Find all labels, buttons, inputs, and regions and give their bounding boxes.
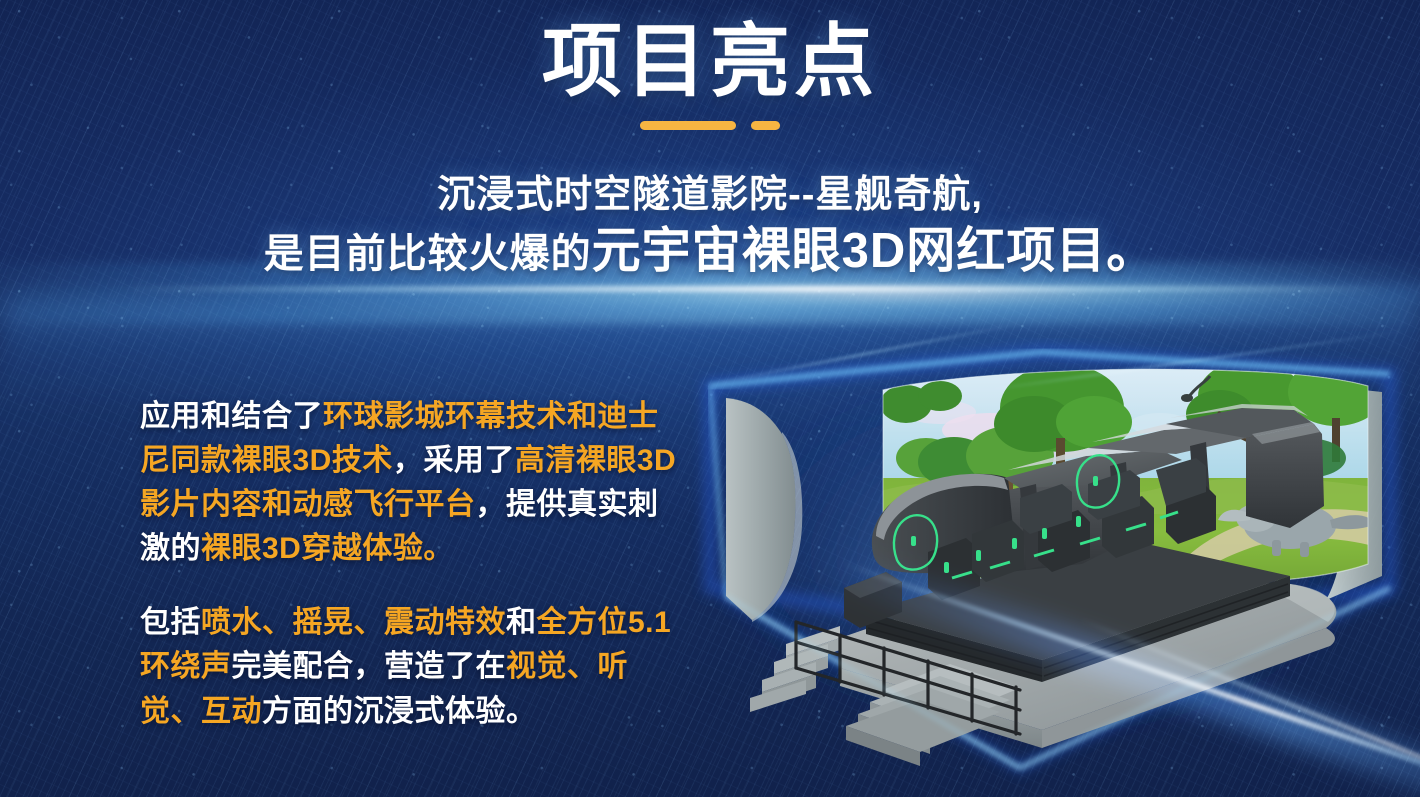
theater-illustration — [690, 338, 1420, 797]
text-segment-6: 裸眼3D穿越体验。 — [201, 532, 454, 565]
page-title: 项目亮点 — [0, 20, 1420, 104]
divider-dash-long — [640, 121, 736, 130]
text-segment-2: 喷水、摇晃、震动特效 — [201, 606, 506, 639]
text-segment-7: 方面的沉浸式体验。 — [262, 695, 537, 728]
slide-canvas: 项目亮点 沉浸式时空隧道影院--星舰奇航, 是目前比较火爆的元宇宙裸眼3D网红项… — [0, 0, 1420, 797]
theater-illustration-svg — [690, 338, 1420, 797]
divider-dash-short — [751, 121, 780, 130]
text-segment-3: 和 — [506, 606, 537, 639]
body-text-column: 应用和结合了环球影城环幕技术和迪士尼同款裸眼3D技术，采用了高清裸眼3D影片内容… — [140, 365, 688, 764]
light-sweep-core — [120, 286, 1390, 292]
text-segment-1: 应用和结合了 — [140, 400, 323, 433]
paragraph-1: 应用和结合了环球影城环幕技术和迪士尼同款裸眼3D技术，采用了高清裸眼3D影片内容… — [140, 395, 688, 571]
subtitle-line-2-big: 元宇宙裸眼3D网红项目。 — [592, 224, 1157, 278]
subtitle-line-1: 沉浸式时空隧道影院--星舰奇航, — [0, 170, 1420, 222]
subtitle-block: 沉浸式时空隧道影院--星舰奇航, 是目前比较火爆的元宇宙裸眼3D网红项目。 — [0, 170, 1420, 280]
text-segment-1: 包括 — [140, 606, 201, 639]
text-segment-5: 完美配合，营造了在 — [232, 650, 507, 683]
subtitle-line-2-small: 是目前比较火爆的 — [264, 232, 592, 276]
subtitle-line-2: 是目前比较火爆的元宇宙裸眼3D网红项目。 — [0, 222, 1420, 281]
title-divider — [0, 121, 1420, 130]
paragraph-2: 包括喷水、摇晃、震动特效和全方位5.1环绕声完美配合，营造了在视觉、听觉、互动方… — [140, 601, 688, 733]
text-segment-3: ，采用了 — [393, 444, 515, 477]
